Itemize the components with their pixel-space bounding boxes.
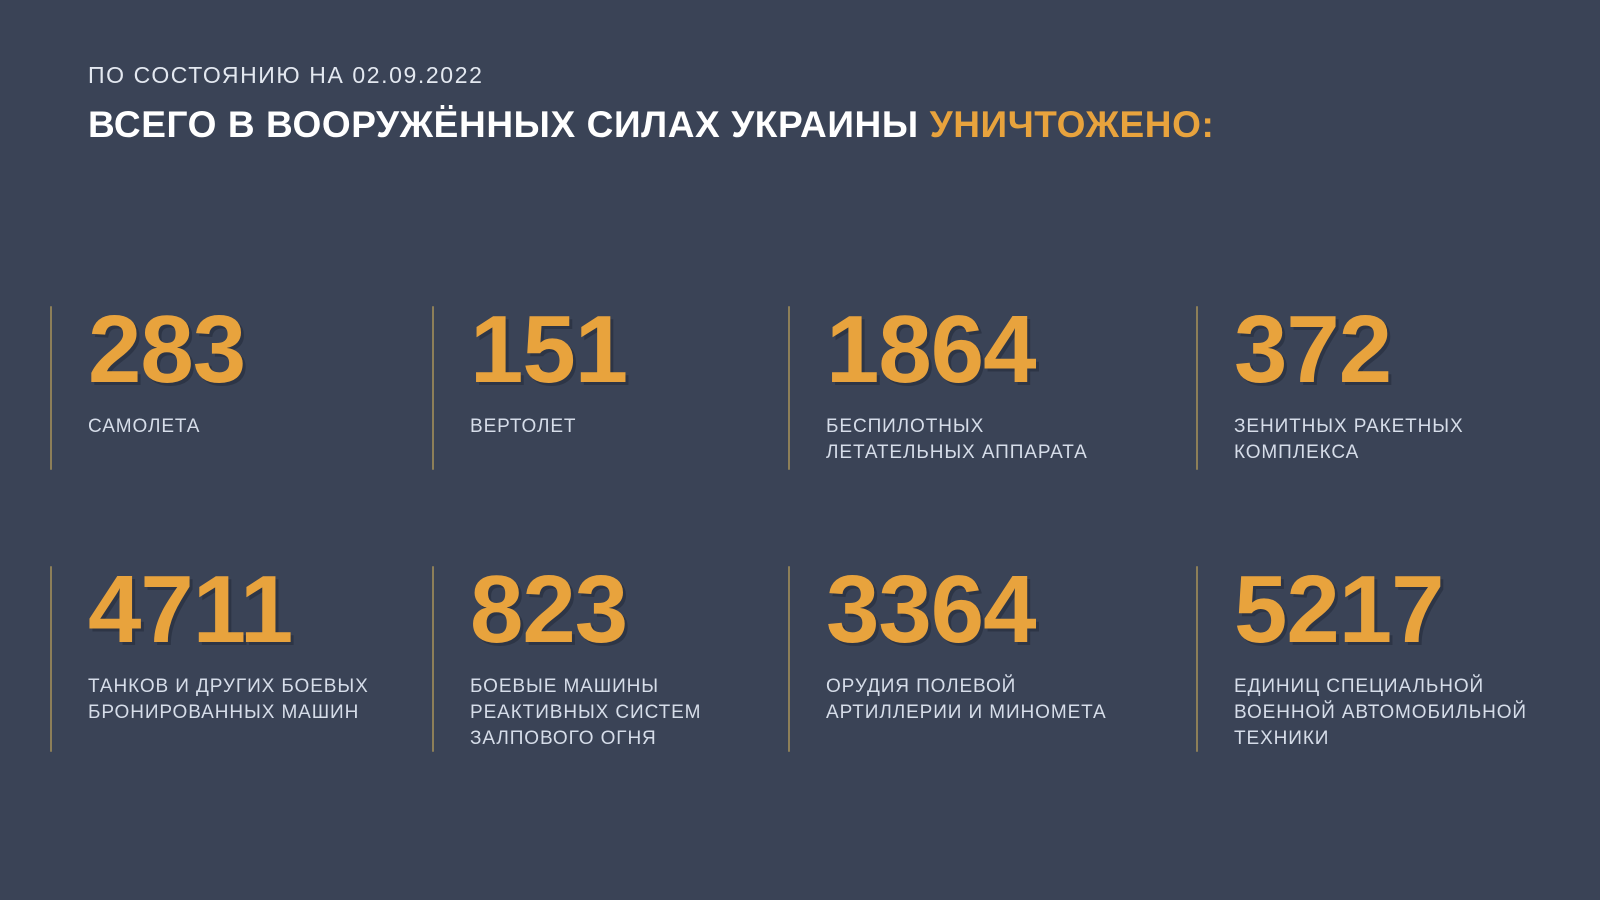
infographic-board: ПО СОСТОЯНИЮ НА 02.09.2022 ВСЕГО В ВООРУ… [0, 0, 1600, 900]
divider-bar [50, 306, 52, 470]
stat-label: ЕДИНИЦ СПЕЦИАЛЬНОЙ ВОЕННОЙ АВТОМОБИЛЬНОЙ… [1234, 674, 1586, 751]
stat-card-military-vehicles: 5217 ЕДИНИЦ СПЕЦИАЛЬНОЙ ВОЕННОЙ АВТОМОБИ… [1196, 566, 1586, 751]
stat-label: БОЕВЫЕ МАШИНЫ РЕАКТИВНЫХ СИСТЕМ ЗАЛПОВОГ… [470, 674, 782, 751]
stat-card-mlrs: 823 БОЕВЫЕ МАШИНЫ РЕАКТИВНЫХ СИСТЕМ ЗАЛП… [432, 566, 782, 751]
stat-card-artillery: 3364 ОРУДИЯ ПОЛЕВОЙ АРТИЛЛЕРИИ И МИНОМЕТ… [788, 566, 1188, 726]
divider-bar [432, 566, 434, 752]
stat-card-air-defense: 372 ЗЕНИТНЫХ РАКЕТНЫХ КОМПЛЕКСА [1196, 306, 1586, 466]
stats-grid: 283 САМОЛЕТА 151 ВЕРТОЛЕТ 1864 БЕСПИЛОТН… [0, 0, 1600, 900]
divider-bar [50, 566, 52, 752]
stat-value: 1864 [826, 306, 1188, 394]
stat-value: 151 [470, 306, 782, 394]
divider-bar [1196, 306, 1198, 470]
stat-value: 4711 [88, 566, 420, 654]
stat-card-helicopters: 151 ВЕРТОЛЕТ [432, 306, 782, 440]
stat-label: САМОЛЕТА [88, 414, 420, 440]
divider-bar [1196, 566, 1198, 752]
stat-label: ТАНКОВ И ДРУГИХ БОЕВЫХ БРОНИРОВАННЫХ МАШ… [88, 674, 420, 725]
divider-bar [788, 306, 790, 470]
stat-value: 283 [88, 306, 420, 394]
stat-value: 5217 [1234, 566, 1586, 654]
stat-card-tanks: 4711 ТАНКОВ И ДРУГИХ БОЕВЫХ БРОНИРОВАННЫ… [50, 566, 420, 726]
stat-card-aircraft: 283 САМОЛЕТА [50, 306, 420, 440]
stat-label: ОРУДИЯ ПОЛЕВОЙ АРТИЛЛЕРИИ И МИНОМЕТА [826, 674, 1188, 725]
stat-label: ЗЕНИТНЫХ РАКЕТНЫХ КОМПЛЕКСА [1234, 414, 1586, 465]
stat-label: ВЕРТОЛЕТ [470, 414, 782, 440]
stat-value: 823 [470, 566, 782, 654]
stat-label: БЕСПИЛОТНЫХ ЛЕТАТЕЛЬНЫХ АППАРАТА [826, 414, 1188, 465]
divider-bar [788, 566, 790, 752]
stat-value: 3364 [826, 566, 1188, 654]
stat-value: 372 [1234, 306, 1586, 394]
divider-bar [432, 306, 434, 470]
stat-card-uav: 1864 БЕСПИЛОТНЫХ ЛЕТАТЕЛЬНЫХ АППАРАТА [788, 306, 1188, 466]
